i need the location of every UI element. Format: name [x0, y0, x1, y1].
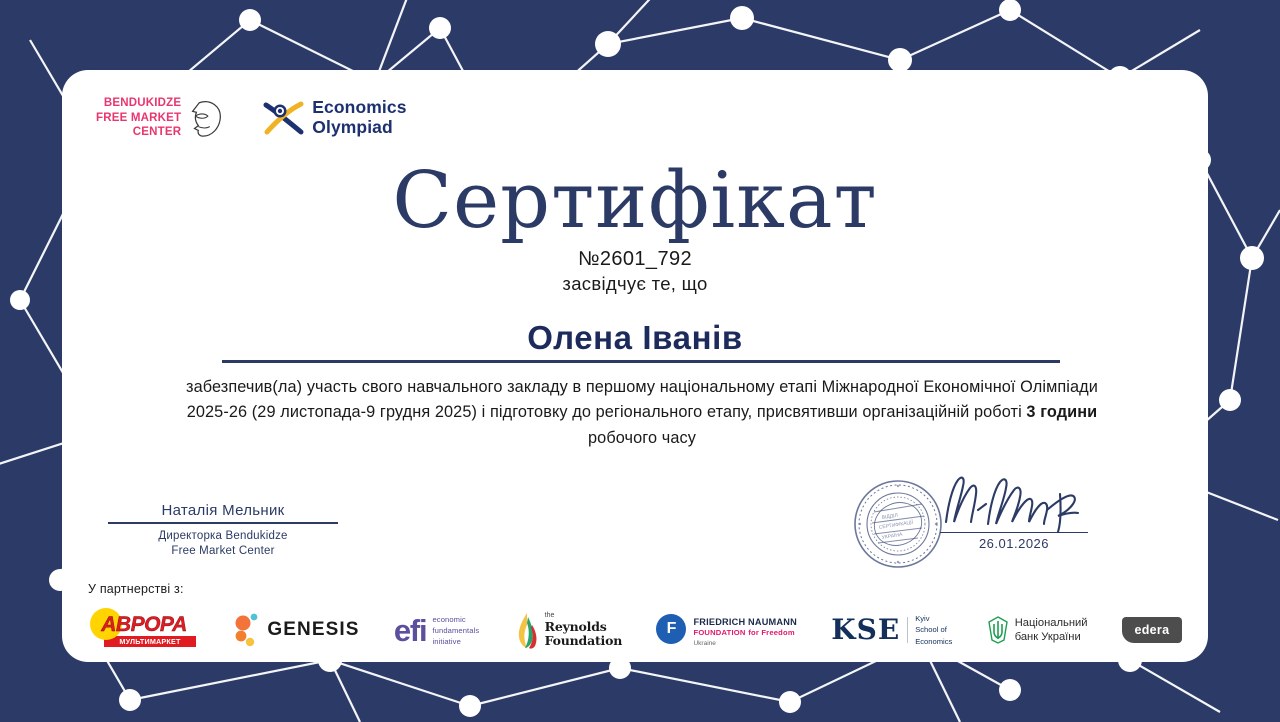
nbu-line-2: банк України: [1015, 630, 1088, 644]
handwritten-signature-icon: [934, 470, 1094, 538]
kse-logo-subtext: Kyiv School of Economics: [915, 613, 952, 647]
bendukidze-face-icon: [185, 97, 225, 139]
kse-sub-line-1: Kyiv: [915, 613, 952, 624]
signature-rule: [940, 532, 1088, 533]
certificate-number: №2601_792: [62, 248, 1208, 271]
fn-line-2: FOUNDATION: [693, 628, 745, 637]
fn-line-1: FRIEDRICH NAUMANN: [693, 617, 796, 627]
reynolds-line-2: Foundation: [545, 634, 623, 648]
kse-divider: [907, 617, 908, 643]
bfmc-logo-text: BENDUKIDZE FREE MARKET CENTER: [96, 96, 181, 140]
friedrich-naumann-logo-text: FRIEDRICH NAUMANN FOUNDATION for Freedom…: [693, 614, 796, 647]
bfmc-line-2: FREE MARKET: [96, 111, 181, 126]
genesis-dots-icon: [234, 613, 262, 647]
partners-logo-row: АВРОРА МУЛЬТИМАРКЕТ GENESIS efi economic…: [82, 602, 1188, 658]
partner-logo-friedrich-naumann-foundation: F FRIEDRICH NAUMANN FOUNDATION for Freed…: [656, 614, 796, 647]
reynolds-flame-icon: [514, 611, 540, 649]
recipient-name: Олена Іванів: [62, 319, 1208, 357]
partner-logo-national-bank-of-ukraine: Національний банк України: [987, 616, 1088, 644]
kse-logo-mark: KSE: [831, 613, 900, 646]
partner-logo-edera: edera: [1122, 617, 1182, 643]
reynolds-logo-text: the Reynolds Foundation: [545, 612, 623, 647]
nbu-trident-icon: [987, 616, 1009, 644]
bfmc-line-3: CENTER: [96, 125, 181, 140]
body-text-part-1: забезпечив(ла) участь свого навчального …: [186, 378, 1098, 421]
signatory-role: Директорка Bendukidze Free Market Center: [108, 529, 338, 560]
economics-olympiad-logo-text: Economics Olympiad: [312, 98, 406, 137]
certificate-title: Сертифікат: [62, 162, 1208, 240]
kse-sub-line-2: School of: [915, 624, 952, 635]
eo-line-2: Olympiad: [312, 118, 406, 138]
body-text-part-2: робочого часу: [588, 429, 696, 447]
partner-logo-avrora: АВРОРА МУЛЬТИМАРКЕТ: [88, 610, 200, 650]
signatory-block: Наталія Мельник Директорка Bendukidze Fr…: [108, 502, 338, 560]
signatory-role-line-2: Free Market Center: [108, 544, 338, 560]
signatory-name: Наталія Мельник: [108, 502, 338, 519]
official-round-stamp-icon: ВІДДІЛ СЕРТИФІКАЦІЇ УКРАЇНА: [852, 478, 944, 570]
signatory-role-line-1: Директорка Bendukidze: [108, 529, 338, 545]
certificate-subtitle: засвідчує те, що: [62, 273, 1208, 295]
certificate-card: BENDUKIDZE FREE MARKET CENTER Economics …: [62, 70, 1208, 662]
avrora-logo-text: АВРОРА: [101, 613, 187, 637]
efi-sub-line-1: economic: [432, 614, 479, 625]
partners-label: У партнерстві з:: [88, 582, 184, 596]
efi-sub-line-3: initiative: [432, 636, 479, 647]
partner-logo-reynolds-foundation: the Reynolds Foundation: [514, 611, 623, 649]
eo-line-1: Economics: [312, 98, 406, 118]
bfmc-line-1: BENDUKIDZE: [96, 96, 181, 111]
signatory-rule: [108, 522, 338, 524]
body-text-hours: 3 години: [1026, 403, 1097, 421]
efi-logo-subtext: economic fundamentals initiative: [432, 614, 479, 647]
edera-logo-text: edera: [1122, 617, 1182, 643]
nbu-logo-text: Національний банк України: [1015, 616, 1088, 644]
efi-logo-mark: efi: [394, 615, 427, 646]
kse-sub-line-3: Economics: [915, 636, 952, 647]
stamp-and-signature-area: ВІДДІЛ СЕРТИФІКАЦІЇ УКРАЇНА 26.01.2026: [852, 470, 1102, 570]
avrora-logo-subtext: МУЛЬТИМАРКЕТ: [104, 636, 196, 647]
genesis-logo-text: GENESIS: [267, 619, 359, 641]
economics-olympiad-swoosh-icon: [263, 98, 305, 138]
partner-logo-efi: efi economic fundamentals initiative: [394, 614, 479, 647]
header-logo-row: BENDUKIDZE FREE MARKET CENTER Economics …: [96, 96, 407, 140]
fn-line-3: Ukraine: [693, 640, 796, 647]
fn-for-freedom: for Freedom: [748, 628, 795, 637]
partner-logo-genesis: GENESIS: [234, 613, 359, 647]
certificate-body-text: забезпечив(ла) участь свого навчального …: [182, 375, 1102, 451]
friedrich-naumann-badge-icon: F: [656, 614, 686, 644]
reynolds-line-1: Reynolds: [545, 620, 623, 634]
bendukidze-free-market-center-logo: BENDUKIDZE FREE MARKET CENTER: [96, 96, 225, 140]
partner-logo-kse: KSE Kyiv School of Economics: [831, 613, 952, 647]
efi-sub-line-2: fundamentals: [432, 625, 479, 636]
nbu-line-1: Національний: [1015, 616, 1088, 630]
signature-date: 26.01.2026: [940, 536, 1088, 551]
economics-olympiad-logo: Economics Olympiad: [263, 98, 406, 138]
name-divider-rule: [222, 360, 1060, 363]
